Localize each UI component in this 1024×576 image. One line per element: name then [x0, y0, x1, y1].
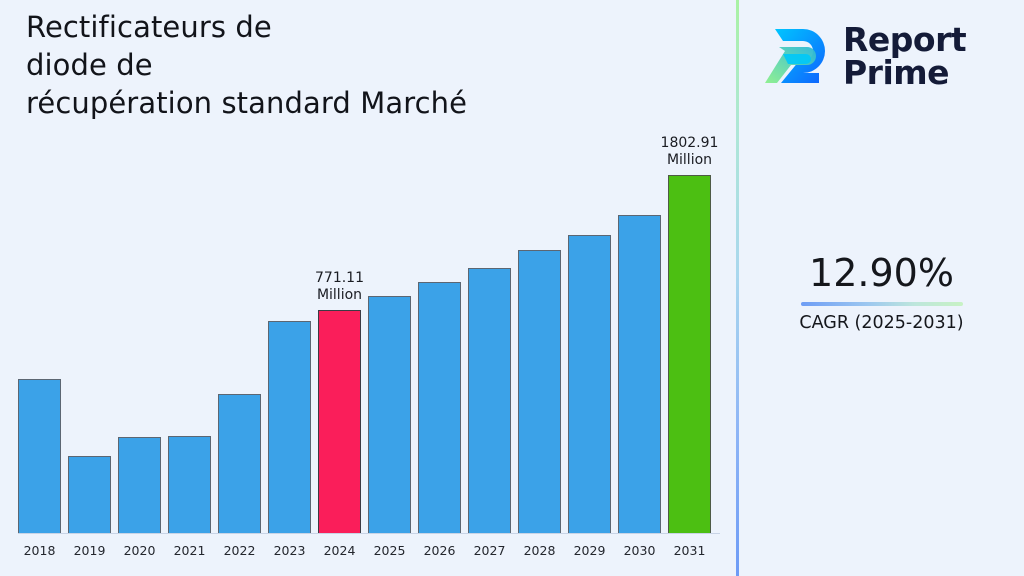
x-tick-2019: 2019: [68, 543, 111, 558]
bar-2022[interactable]: [218, 43, 261, 533]
bar-2028[interactable]: [518, 43, 561, 533]
bar-2030[interactable]: [618, 43, 661, 533]
x-tick-2018: 2018: [18, 543, 61, 558]
x-tick-2030: 2030: [618, 543, 661, 558]
x-axis-line: [18, 533, 720, 534]
report-prime-logo-icon: [761, 21, 833, 91]
x-tick-2025: 2025: [368, 543, 411, 558]
bar-2031[interactable]: 1802.91 Million: [668, 43, 711, 533]
chart-infographic: Rectificateurs de diode de récupération …: [0, 0, 1024, 576]
report-prime-wordmark: Report Prime: [843, 23, 966, 89]
bar-2026[interactable]: [418, 43, 461, 533]
bar-rect-2024[interactable]: [318, 310, 361, 533]
bar-rect-2020[interactable]: [118, 437, 161, 533]
bar-rect-2027[interactable]: [468, 268, 511, 533]
bar-rect-2030[interactable]: [618, 215, 661, 533]
x-tick-2022: 2022: [218, 543, 261, 558]
x-tick-2031: 2031: [668, 543, 711, 558]
bar-2024[interactable]: 771.11 Million: [318, 43, 361, 533]
bar-rect-2026[interactable]: [418, 282, 461, 533]
cagr-caption: CAGR (2025-2031): [739, 312, 1024, 334]
x-tick-2026: 2026: [418, 543, 461, 558]
bar-rect-2022[interactable]: [218, 394, 261, 533]
x-tick-2023: 2023: [268, 543, 311, 558]
brand-panel: Report Prime 12.90% CAGR (2025-2031): [739, 0, 1024, 576]
cagr-value: 12.90%: [739, 250, 1024, 296]
chart-panel: Rectificateurs de diode de récupération …: [0, 0, 737, 576]
x-tick-2029: 2029: [568, 543, 611, 558]
bar-value-label-2031: 1802.91 Million: [646, 135, 733, 169]
bar-rect-2029[interactable]: [568, 235, 611, 533]
bar-rect-2021[interactable]: [168, 436, 211, 533]
bar-rect-2025[interactable]: [368, 296, 411, 533]
bar-2021[interactable]: [168, 43, 211, 533]
bar-rect-2018[interactable]: [18, 379, 61, 533]
x-tick-2021: 2021: [168, 543, 211, 558]
x-tick-2027: 2027: [468, 543, 511, 558]
bar-2018[interactable]: [18, 43, 61, 533]
cagr-block: 12.90% CAGR (2025-2031): [739, 250, 1024, 334]
bar-2029[interactable]: [568, 43, 611, 533]
report-prime-logo[interactable]: Report Prime: [761, 14, 1011, 98]
x-tick-2028: 2028: [518, 543, 561, 558]
bar-2025[interactable]: [368, 43, 411, 533]
bar-2020[interactable]: [118, 43, 161, 533]
bar-2019[interactable]: [68, 43, 111, 533]
bar-2027[interactable]: [468, 43, 511, 533]
bar-chart-plot: 201820192020202120222023771.11 Million20…: [0, 0, 737, 576]
bar-rect-2028[interactable]: [518, 250, 561, 533]
bar-rect-2019[interactable]: [68, 456, 111, 533]
x-tick-2020: 2020: [118, 543, 161, 558]
bar-rect-2023[interactable]: [268, 321, 311, 533]
x-tick-2024: 2024: [318, 543, 361, 558]
cagr-divider: [801, 302, 963, 306]
bar-rect-2031[interactable]: [668, 175, 711, 533]
